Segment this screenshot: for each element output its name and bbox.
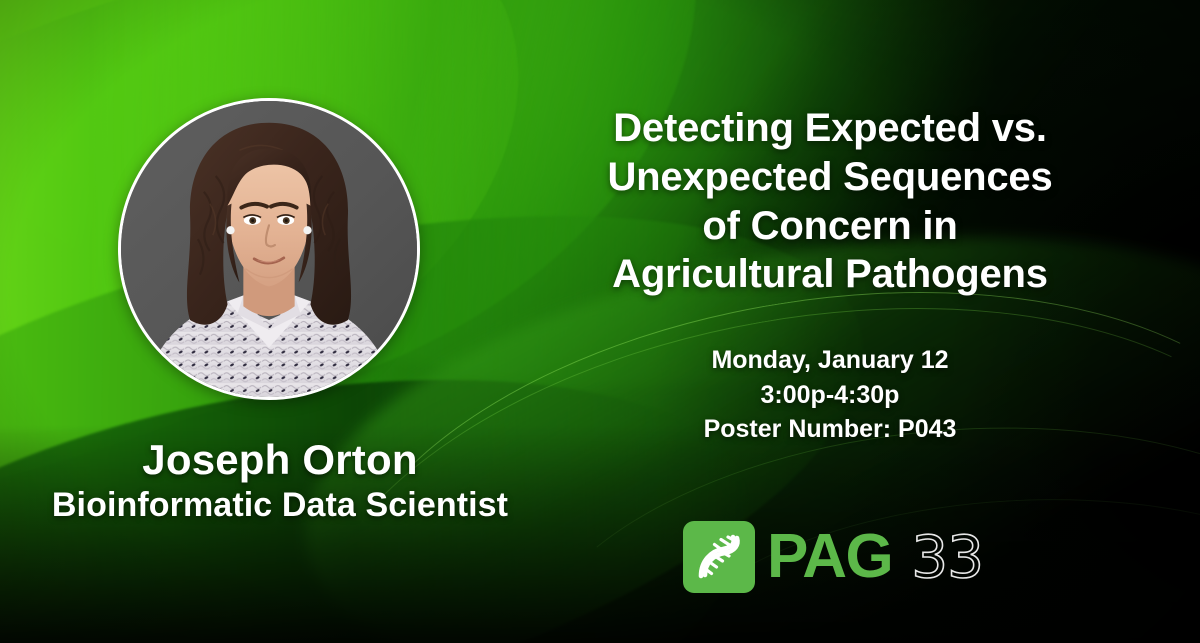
talk-title: Detecting Expected vs. Unexpected Sequen… <box>560 104 1100 299</box>
talk-poster-number: Poster Number: P043 <box>560 412 1100 447</box>
talk-time: 3:00p-4:30p <box>560 378 1100 413</box>
presenter-photo <box>118 98 420 400</box>
pag-logo: PAG 33 <box>683 521 983 593</box>
talk-title-line-2: Unexpected Sequences <box>560 153 1100 202</box>
talk-title-line-1: Detecting Expected vs. <box>560 104 1100 153</box>
presenter-role: Bioinformatic Data Scientist <box>0 487 560 524</box>
presenter-info: Joseph Orton Bioinformatic Data Scientis… <box>0 438 560 524</box>
talk-info: Detecting Expected vs. Unexpected Sequen… <box>560 104 1100 447</box>
talk-title-line-3: of Concern in <box>560 202 1100 251</box>
talk-date: Monday, January 12 <box>560 343 1100 378</box>
talk-schedule: Monday, January 12 3:00p-4:30p Poster Nu… <box>560 343 1100 447</box>
pag-wordmark: PAG <box>767 526 892 588</box>
presenter-name: Joseph Orton <box>0 438 560 483</box>
talk-title-line-4: Agricultural Pathogens <box>560 250 1100 299</box>
pag-edition-number: 33 <box>911 528 983 586</box>
conference-poster-announcement: Joseph Orton Bioinformatic Data Scientis… <box>0 0 1200 643</box>
dna-helix-icon <box>683 521 755 593</box>
